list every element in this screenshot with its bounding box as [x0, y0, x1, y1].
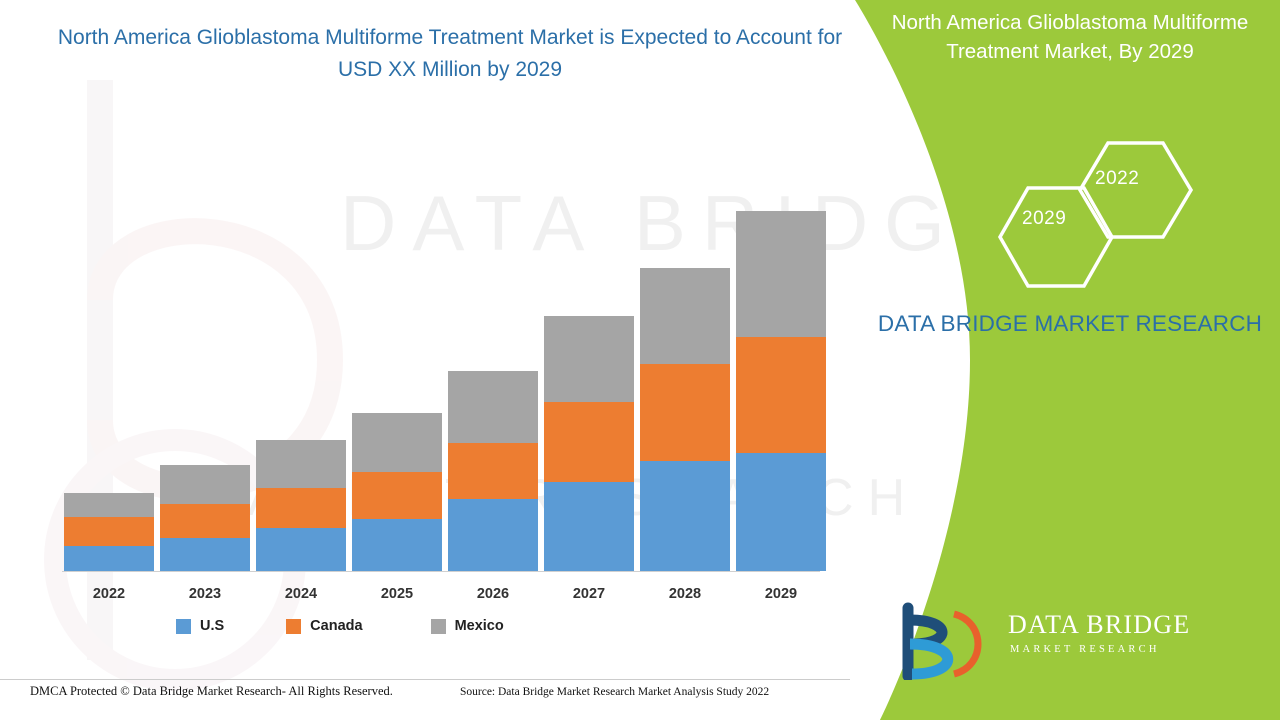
- panel-title: North America Glioblastoma Multiforme Tr…: [875, 8, 1265, 66]
- legend-swatch-canada: [286, 619, 301, 634]
- legend-item-us: U.S: [176, 618, 224, 634]
- legend-label-mexico: Mexico: [455, 618, 504, 634]
- x-label-2024: 2024: [256, 586, 346, 602]
- bar-segment-mexico: [448, 371, 538, 443]
- x-label-2029: 2029: [736, 586, 826, 602]
- legend-swatch-mexico: [431, 619, 446, 634]
- bar-2024: [256, 440, 346, 571]
- bar-segment-us: [64, 546, 154, 571]
- hexagon-icon: [970, 140, 1270, 290]
- bar-2026: [448, 371, 538, 571]
- bar-segment-us: [352, 519, 442, 571]
- bar-segment-canada: [544, 402, 634, 482]
- bar-segment-mexico: [736, 211, 826, 337]
- x-label-2022: 2022: [64, 586, 154, 602]
- logo-title: DATA BRIDGE: [1008, 610, 1190, 640]
- bar-segment-canada: [448, 443, 538, 499]
- chart-legend: U.S Canada Mexico: [176, 618, 504, 634]
- bar-segment-canada: [256, 488, 346, 528]
- legend-label-us: U.S: [200, 618, 224, 634]
- plot-area: 2022 2023 2024 2025 2026: [0, 0, 860, 720]
- bar-2023: [160, 465, 250, 571]
- footer-divider: [0, 679, 850, 680]
- bar-segment-canada: [352, 472, 442, 519]
- panel-content: North America Glioblastoma Multiforme Tr…: [820, 0, 1280, 720]
- bar-segment-us: [544, 482, 634, 571]
- bar-segment-us: [640, 461, 730, 571]
- hexagon-group: 2029 2022: [970, 140, 1270, 290]
- legend-item-mexico: Mexico: [431, 618, 504, 634]
- company-logo: DATA BRIDGE MARKET RESEARCH: [890, 600, 1250, 690]
- logo-subtitle: MARKET RESEARCH: [1010, 644, 1160, 655]
- x-label-2025: 2025: [352, 586, 442, 602]
- bar-segment-us: [736, 453, 826, 571]
- bar-segment-mexico: [544, 316, 634, 402]
- bar-segment-canada: [160, 504, 250, 538]
- bar-segment-canada: [640, 364, 730, 461]
- bar-segment-us: [256, 528, 346, 571]
- bar-segment-mexico: [352, 413, 442, 472]
- bar-segment-mexico: [640, 268, 730, 364]
- bridge-logo-icon: [890, 600, 1000, 680]
- x-label-2023: 2023: [160, 586, 250, 602]
- bar-2022: [64, 493, 154, 571]
- x-label-2027: 2027: [544, 586, 634, 602]
- x-label-2028: 2028: [640, 586, 730, 602]
- right-panel: North America Glioblastoma Multiforme Tr…: [820, 0, 1280, 720]
- bar-segment-mexico: [256, 440, 346, 488]
- bar-2025: [352, 413, 442, 571]
- x-axis-line: [62, 571, 820, 572]
- bar-segment-us: [448, 499, 538, 571]
- hexagon-label-2029: 2029: [1022, 208, 1066, 230]
- bar-segment-mexico: [160, 465, 250, 504]
- bar-segment-us: [160, 538, 250, 571]
- bar-segment-canada: [736, 337, 826, 453]
- legend-swatch-us: [176, 619, 191, 634]
- x-label-2026: 2026: [448, 586, 538, 602]
- bar-2028: [640, 268, 730, 571]
- bar-segment-mexico: [64, 493, 154, 517]
- footer-source: Source: Data Bridge Market Research Mark…: [460, 686, 769, 698]
- hexagon-label-2022: 2022: [1095, 168, 1139, 190]
- bar-segment-canada: [64, 517, 154, 546]
- legend-label-canada: Canada: [310, 618, 362, 634]
- chart-page: DATA BRIDGE MARKET RESEARCH North Americ…: [0, 0, 1280, 720]
- footer-copyright: DMCA Protected © Data Bridge Market Rese…: [30, 684, 393, 699]
- legend-item-canada: Canada: [286, 618, 362, 634]
- bar-2027: [544, 316, 634, 571]
- bar-2029: [736, 211, 826, 571]
- panel-brand-name: DATA BRIDGE MARKET RESEARCH: [860, 308, 1280, 340]
